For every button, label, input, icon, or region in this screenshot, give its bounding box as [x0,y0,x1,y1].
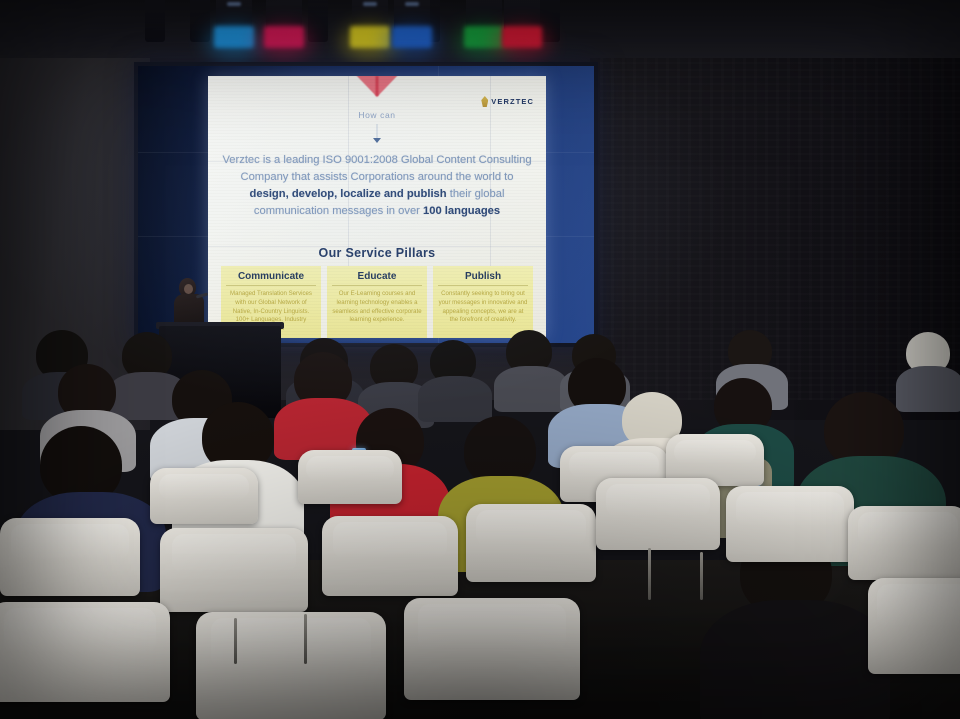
pillar-body: Constantly seeking to bring out your mes… [438,290,528,325]
pillars-section-title: Our Service Pillars [208,246,546,260]
chair-leg [234,618,237,664]
pillar-title: Publish [438,271,528,286]
down-arrow-icon [373,138,381,143]
chair-leg [700,552,703,600]
rig-post [145,0,165,42]
chair-leg [648,548,651,600]
presenter [172,278,206,326]
presentation-photo-scene: VERZTEC How can Verztec is a leading ISO… [0,0,960,719]
chair [404,598,580,700]
stage-light-blue-2 [390,0,434,48]
chair [298,450,402,504]
pillar-publish: Publish Constantly seeking to bring out … [433,266,533,338]
verztec-diamond-mark-icon [481,96,488,107]
chair [150,468,258,524]
chair [160,528,308,612]
red-chevron-core-icon [376,76,379,96]
seated-audience [0,330,960,719]
person-back-5 [418,340,492,418]
chair [0,602,170,702]
headline-part-1: Verztec is a leading ISO 9001:2008 Globa… [222,154,531,183]
chair-leg [304,614,307,664]
pillar-title: Educate [332,271,422,286]
chair [596,478,720,550]
pillar-body: Our E-Learning courses and learning tech… [332,290,422,325]
chair [726,486,854,562]
pillar-educate: Educate Our E-Learning courses and learn… [327,266,427,338]
verztec-logo: VERZTEC [481,96,534,107]
presenter-face [184,284,193,294]
headline-bold-1: design, develop, localize and publish [250,188,447,200]
stage-light-blue [212,0,256,48]
chair [466,504,596,582]
chair [0,518,140,596]
headline-bold-2: 100 languages [423,205,500,217]
pillar-title: Communicate [226,271,316,286]
chair [848,506,960,580]
presentation-slide: VERZTEC How can Verztec is a leading ISO… [208,76,546,338]
chair [322,516,458,596]
rig-post [308,0,328,42]
chair [196,612,386,719]
stage-light-magenta [262,0,306,48]
slide-headline: Verztec is a leading ISO 9001:2008 Globa… [222,152,532,220]
stage-light-red [500,0,544,48]
verztec-wordmark: VERZTEC [491,97,534,106]
slide-eyebrow: How can [208,110,546,120]
chair [868,578,960,674]
